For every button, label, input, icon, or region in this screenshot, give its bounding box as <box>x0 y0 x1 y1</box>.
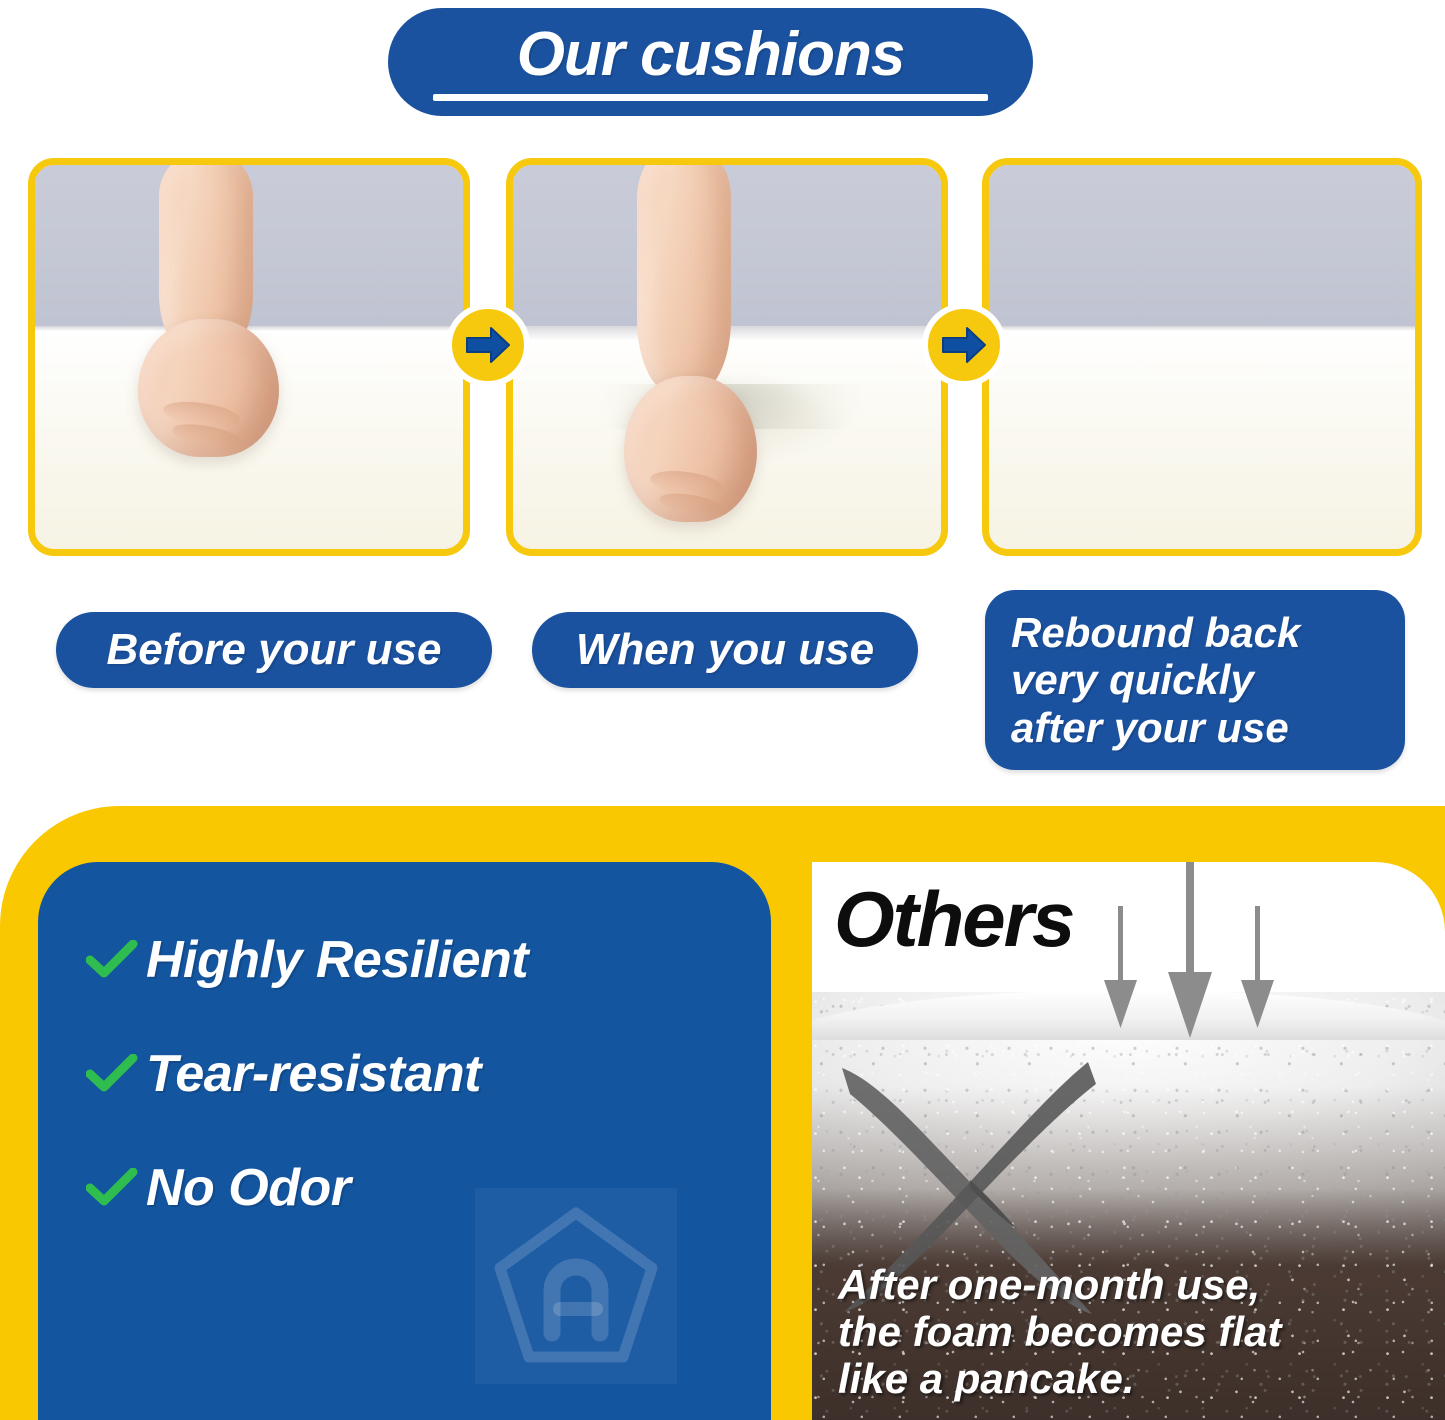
others-caption: After one-month use, the foam becomes fl… <box>838 1261 1431 1402</box>
step-label-rebound: Rebound back very quickly after your use <box>985 590 1405 770</box>
features-card: Highly Resilient Tear-resistant No Odor <box>38 862 771 1420</box>
list-item: Tear-resistant <box>86 1044 726 1104</box>
photo-background-wall <box>989 165 1415 326</box>
step-label-text: Rebound back very quickly after your use <box>1011 609 1300 751</box>
photo-rebound <box>989 165 1415 549</box>
photo-foam-surface-flat <box>989 326 1415 549</box>
forearm-shape <box>637 158 731 395</box>
header-banner: Our cushions <box>388 8 1033 116</box>
others-title: Others <box>834 880 1073 958</box>
feature-list: Highly Resilient Tear-resistant No Odor <box>86 930 726 1272</box>
list-item: Highly Resilient <box>86 930 726 990</box>
feature-label: Tear-resistant <box>146 1044 481 1104</box>
feature-label: Highly Resilient <box>146 930 528 990</box>
photo-when-use <box>513 165 941 549</box>
step-label-when-use: When you use <box>532 612 918 688</box>
check-icon <box>86 1054 146 1094</box>
title-underline <box>433 94 988 101</box>
list-item: No Odor <box>86 1158 726 1218</box>
check-icon <box>86 1168 146 1208</box>
check-icon <box>86 940 146 980</box>
step-photo-1 <box>28 158 470 556</box>
feature-label: No Odor <box>146 1158 350 1218</box>
step-photo-2 <box>506 158 948 556</box>
photo-before-use <box>35 165 463 549</box>
arrow-right-icon <box>922 303 1006 387</box>
others-comparison-card: Others <box>812 862 1445 1420</box>
arrow-down-icon <box>1104 906 1137 1028</box>
pressure-arrows-group <box>1100 862 1280 1042</box>
step-label-text: When you use <box>576 627 874 674</box>
infographic-root: Our cushions <box>0 0 1445 1420</box>
arrow-down-icon <box>1241 906 1274 1028</box>
step-photo-3 <box>982 158 1422 556</box>
page-title: Our cushions <box>517 24 905 86</box>
arrow-down-icon <box>1168 862 1212 1038</box>
step-label-before-use: Before your use <box>56 612 492 688</box>
arrow-right-icon <box>446 303 530 387</box>
step-label-text: Before your use <box>107 627 442 674</box>
